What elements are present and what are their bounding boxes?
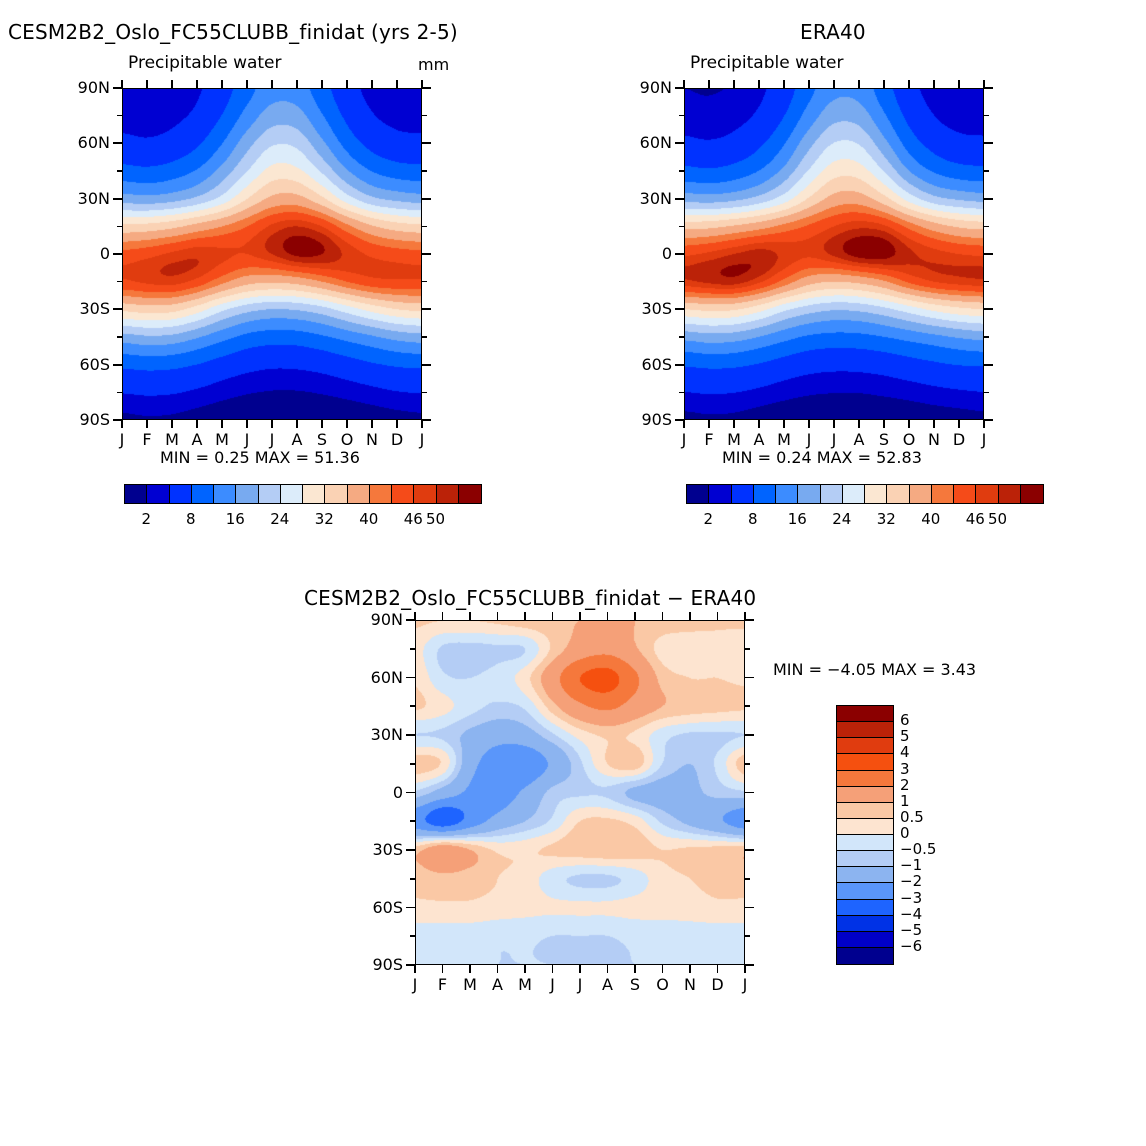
top-right-colorbar[interactable]: [686, 484, 1044, 504]
axis-tick: [758, 80, 760, 88]
axis-minor-tick: [117, 336, 122, 338]
axis-tick: [406, 677, 415, 679]
colorbar-swatch: [843, 485, 865, 503]
latitude-label: 30S: [349, 840, 403, 859]
axis-tick: [113, 142, 122, 144]
axis-tick: [422, 198, 431, 200]
axis-minor-tick: [410, 935, 415, 937]
axis-tick: [396, 80, 398, 88]
axis-tick: [984, 308, 993, 310]
axis-minor-tick: [410, 648, 415, 650]
month-label: S: [312, 430, 332, 449]
latitude-label: 30N: [56, 189, 110, 208]
axis-tick: [984, 87, 993, 89]
axis-tick: [634, 965, 636, 973]
month-label: N: [680, 975, 700, 994]
axis-tick: [708, 80, 710, 88]
month-label: O: [899, 430, 919, 449]
month-label: A: [488, 975, 508, 994]
axis-tick: [858, 420, 860, 428]
axis-tick: [371, 80, 373, 88]
axis-tick: [662, 965, 664, 973]
axis-minor-tick: [679, 336, 684, 338]
axis-tick: [421, 420, 423, 428]
axis-tick: [675, 142, 684, 144]
axis-tick: [833, 420, 835, 428]
axis-minor-tick: [984, 281, 989, 283]
month-label: F: [137, 430, 157, 449]
axis-tick: [121, 420, 123, 428]
colorbar-swatch: [837, 851, 893, 867]
axis-tick: [406, 619, 415, 621]
colorbar-tick-label: 24: [264, 510, 296, 528]
axis-tick: [984, 198, 993, 200]
axis-tick: [745, 964, 754, 966]
axis-tick: [883, 80, 885, 88]
axis-tick: [113, 87, 122, 89]
month-label: O: [337, 430, 357, 449]
axis-tick: [675, 308, 684, 310]
axis-minor-tick: [410, 705, 415, 707]
top-left-colorbar[interactable]: [124, 484, 482, 504]
latitude-label: 90N: [56, 78, 110, 97]
latitude-label: 60N: [349, 668, 403, 687]
colorbar-swatch: [437, 485, 459, 503]
axis-tick: [745, 734, 754, 736]
axis-tick: [607, 612, 609, 620]
axis-tick: [497, 612, 499, 620]
axis-tick: [321, 80, 323, 88]
month-label: J: [237, 430, 257, 449]
month-label: A: [187, 430, 207, 449]
axis-tick: [422, 253, 431, 255]
latitude-label: 90N: [618, 78, 672, 97]
axis-tick: [579, 965, 581, 973]
latitude-label: 90S: [56, 410, 110, 429]
axis-tick: [908, 80, 910, 88]
colorbar-swatch: [798, 485, 820, 503]
axis-tick: [113, 308, 122, 310]
latitude-label: 30S: [56, 299, 110, 318]
axis-tick: [406, 734, 415, 736]
axis-tick: [675, 364, 684, 366]
axis-minor-tick: [117, 226, 122, 228]
axis-tick: [146, 80, 148, 88]
colorbar-tick-label: 50: [420, 510, 452, 528]
colorbar-swatch: [192, 485, 214, 503]
month-label: J: [735, 975, 755, 994]
axis-tick: [497, 965, 499, 973]
month-label: S: [625, 975, 645, 994]
latitude-label: 30N: [618, 189, 672, 208]
axis-minor-tick: [984, 336, 989, 338]
axis-minor-tick: [679, 392, 684, 394]
colorbar-tick-label: 8: [737, 510, 769, 528]
axis-tick: [607, 965, 609, 973]
month-label: M: [460, 975, 480, 994]
axis-tick: [744, 965, 746, 973]
axis-tick: [733, 420, 735, 428]
colorbar-swatch: [392, 485, 414, 503]
colorbar-swatch: [837, 803, 893, 819]
axis-minor-tick: [745, 763, 750, 765]
axis-tick: [271, 80, 273, 88]
axis-tick: [708, 420, 710, 428]
colorbar-swatch: [837, 932, 893, 948]
month-label: M: [162, 430, 182, 449]
colorbar-swatch: [932, 485, 954, 503]
top-right-subtitle: Precipitable water: [690, 53, 844, 73]
colorbar-tick-label: 32: [870, 510, 902, 528]
axis-tick: [858, 80, 860, 88]
axis-tick: [422, 419, 431, 421]
colorbar-swatch: [837, 819, 893, 835]
colorbar-swatch: [281, 485, 303, 503]
axis-tick: [758, 420, 760, 428]
axis-tick: [958, 80, 960, 88]
axis-tick: [689, 965, 691, 973]
axis-tick: [271, 420, 273, 428]
axis-tick: [984, 419, 993, 421]
month-label: D: [708, 975, 728, 994]
top-left-units: mm: [418, 55, 449, 74]
colorbar-swatch: [687, 485, 709, 503]
colorbar-swatch: [837, 722, 893, 738]
axis-minor-tick: [745, 820, 750, 822]
colorbar-swatch: [865, 485, 887, 503]
axis-tick: [783, 420, 785, 428]
colorbar-swatch: [459, 485, 481, 503]
colorbar-swatch: [147, 485, 169, 503]
colorbar-swatch: [837, 835, 893, 851]
month-label: J: [570, 975, 590, 994]
axis-tick: [296, 80, 298, 88]
axis-minor-tick: [984, 115, 989, 117]
axis-minor-tick: [410, 878, 415, 880]
axis-minor-tick: [984, 226, 989, 228]
colorbar-tick-label: 32: [308, 510, 340, 528]
axis-tick: [196, 420, 198, 428]
axis-tick: [422, 142, 431, 144]
axis-tick: [422, 308, 431, 310]
colorbar-tick-label: 16: [219, 510, 251, 528]
colorbar-swatch: [910, 485, 932, 503]
axis-tick: [113, 253, 122, 255]
colorbar-swatch: [837, 706, 893, 722]
axis-tick: [675, 253, 684, 255]
axis-tick: [984, 364, 993, 366]
colorbar-tick-label: −6: [900, 937, 922, 955]
colorbar-swatch: [170, 485, 192, 503]
axis-tick: [552, 612, 554, 620]
latitude-label: 0: [349, 783, 403, 802]
colorbar-swatch: [999, 485, 1021, 503]
axis-minor-tick: [679, 170, 684, 172]
axis-tick: [745, 619, 754, 621]
axis-tick: [406, 907, 415, 909]
month-label: J: [824, 430, 844, 449]
month-label: S: [874, 430, 894, 449]
axis-tick: [321, 420, 323, 428]
axis-tick: [745, 849, 754, 851]
axis-tick: [958, 420, 960, 428]
latitude-label: 90S: [618, 410, 672, 429]
axis-minor-tick: [679, 226, 684, 228]
colorbar-tick-label: 2: [692, 510, 724, 528]
axis-tick: [717, 965, 719, 973]
latitude-label: 0: [618, 244, 672, 263]
month-label: J: [799, 430, 819, 449]
axis-tick: [733, 80, 735, 88]
axis-tick: [933, 80, 935, 88]
axis-tick: [833, 80, 835, 88]
colorbar-swatch: [236, 485, 258, 503]
month-label: J: [412, 430, 432, 449]
colorbar-swatch: [754, 485, 776, 503]
colorbar-swatch: [259, 485, 281, 503]
axis-tick: [883, 420, 885, 428]
month-label: M: [212, 430, 232, 449]
axis-tick: [346, 80, 348, 88]
month-label: N: [924, 430, 944, 449]
colorbar-swatch: [837, 883, 893, 899]
difference-title: CESM2B2_Oslo_FC55CLUBB_finidat − ERA40: [304, 586, 756, 610]
axis-tick: [745, 792, 754, 794]
month-label: J: [405, 975, 425, 994]
month-label: A: [749, 430, 769, 449]
latitude-label: 0: [56, 244, 110, 263]
colorbar-swatch: [370, 485, 392, 503]
axis-minor-tick: [410, 820, 415, 822]
month-label: D: [949, 430, 969, 449]
month-label: A: [598, 975, 618, 994]
latitude-label: 60S: [56, 355, 110, 374]
top-left-minmax: MIN = 0.25 MAX = 51.36: [160, 448, 360, 467]
axis-tick: [675, 87, 684, 89]
colorbar-swatch: [837, 771, 893, 787]
axis-minor-tick: [117, 392, 122, 394]
axis-tick: [406, 792, 415, 794]
colorbar-swatch: [125, 485, 147, 503]
axis-tick: [524, 965, 526, 973]
month-label: M: [774, 430, 794, 449]
top-right-contour-plot[interactable]: [684, 88, 984, 420]
colorbar-swatch: [709, 485, 731, 503]
colorbar-swatch: [303, 485, 325, 503]
month-label: M: [724, 430, 744, 449]
axis-tick: [689, 612, 691, 620]
colorbar-tick-label: 40: [915, 510, 947, 528]
colorbar-tick-label: 8: [175, 510, 207, 528]
colorbar-swatch: [821, 485, 843, 503]
axis-tick: [113, 364, 122, 366]
latitude-label: 90N: [349, 610, 403, 629]
axis-minor-tick: [117, 281, 122, 283]
axis-tick: [675, 419, 684, 421]
colorbar-swatch: [732, 485, 754, 503]
colorbar-swatch: [414, 485, 436, 503]
colorbar-swatch: [348, 485, 370, 503]
axis-tick: [717, 612, 719, 620]
axis-tick: [196, 80, 198, 88]
axis-tick: [524, 612, 526, 620]
axis-minor-tick: [679, 281, 684, 283]
axis-tick: [246, 80, 248, 88]
axis-minor-tick: [984, 392, 989, 394]
colorbar-swatch: [837, 754, 893, 770]
axis-tick: [984, 142, 993, 144]
month-label: M: [515, 975, 535, 994]
axis-minor-tick: [984, 170, 989, 172]
axis-tick: [745, 677, 754, 679]
axis-minor-tick: [117, 170, 122, 172]
axis-tick: [246, 420, 248, 428]
difference-minmax: MIN = −4.05 MAX = 3.43: [773, 660, 976, 679]
month-label: D: [387, 430, 407, 449]
axis-tick: [984, 253, 993, 255]
axis-minor-tick: [422, 336, 427, 338]
colorbar-swatch: [214, 485, 236, 503]
top-left-contour-plot[interactable]: [122, 88, 422, 420]
axis-tick: [983, 420, 985, 428]
axis-tick: [808, 80, 810, 88]
colorbar-swatch: [954, 485, 976, 503]
axis-tick: [171, 420, 173, 428]
month-label: A: [849, 430, 869, 449]
colorbar-swatch: [837, 867, 893, 883]
latitude-label: 90S: [349, 955, 403, 974]
axis-tick: [579, 612, 581, 620]
axis-minor-tick: [422, 115, 427, 117]
latitude-label: 60S: [349, 898, 403, 917]
colorbar-tick-label: 50: [982, 510, 1014, 528]
axis-tick: [908, 420, 910, 428]
month-label: A: [287, 430, 307, 449]
month-label: J: [262, 430, 282, 449]
colorbar-swatch: [837, 916, 893, 932]
axis-tick: [469, 965, 471, 973]
axis-minor-tick: [679, 115, 684, 117]
colorbar-swatch: [837, 738, 893, 754]
axis-tick: [808, 420, 810, 428]
axis-minor-tick: [422, 170, 427, 172]
colorbar-swatch: [887, 485, 909, 503]
colorbar-swatch: [837, 787, 893, 803]
axis-tick: [442, 612, 444, 620]
latitude-label: 60N: [56, 133, 110, 152]
axis-tick: [683, 420, 685, 428]
axis-tick: [469, 612, 471, 620]
latitude-label: 30N: [349, 725, 403, 744]
month-label: J: [674, 430, 694, 449]
axis-tick: [371, 420, 373, 428]
colorbar-tick-label: 16: [781, 510, 813, 528]
axis-tick: [422, 364, 431, 366]
axis-tick: [406, 964, 415, 966]
axis-minor-tick: [117, 115, 122, 117]
month-label: O: [653, 975, 673, 994]
axis-minor-tick: [745, 935, 750, 937]
axis-minor-tick: [745, 878, 750, 880]
latitude-label: 60N: [618, 133, 672, 152]
axis-tick: [422, 87, 431, 89]
top-left-title: CESM2B2_Oslo_FC55CLUBB_finidat (yrs 2-5): [8, 20, 458, 44]
colorbar-swatch: [325, 485, 347, 503]
axis-tick: [662, 612, 664, 620]
axis-minor-tick: [422, 281, 427, 283]
colorbar-tick-label: 40: [353, 510, 385, 528]
month-label: N: [362, 430, 382, 449]
colorbar-tick-label: 2: [130, 510, 162, 528]
axis-tick: [113, 198, 122, 200]
colorbar-swatch: [976, 485, 998, 503]
axis-tick: [933, 420, 935, 428]
colorbar-swatch: [837, 900, 893, 916]
month-label: J: [974, 430, 994, 449]
axis-tick: [675, 198, 684, 200]
axis-tick: [442, 965, 444, 973]
axis-tick: [171, 80, 173, 88]
colorbar-swatch: [776, 485, 798, 503]
latitude-label: 60S: [618, 355, 672, 374]
axis-minor-tick: [745, 648, 750, 650]
axis-tick: [406, 849, 415, 851]
axis-tick: [221, 80, 223, 88]
colorbar-swatch: [837, 948, 893, 964]
difference-contour-plot[interactable]: [415, 620, 745, 965]
top-right-minmax: MIN = 0.24 MAX = 52.83: [722, 448, 922, 467]
axis-tick: [414, 965, 416, 973]
colorbar-tick-label: 24: [826, 510, 858, 528]
latitude-label: 30S: [618, 299, 672, 318]
month-label: F: [433, 975, 453, 994]
axis-tick: [552, 965, 554, 973]
axis-minor-tick: [410, 763, 415, 765]
month-label: J: [543, 975, 563, 994]
month-label: J: [112, 430, 132, 449]
axis-tick: [146, 420, 148, 428]
axis-minor-tick: [422, 226, 427, 228]
axis-tick: [221, 420, 223, 428]
axis-tick: [346, 420, 348, 428]
top-right-title: ERA40: [800, 20, 866, 44]
axis-tick: [783, 80, 785, 88]
month-label: F: [699, 430, 719, 449]
axis-minor-tick: [745, 705, 750, 707]
axis-tick: [634, 612, 636, 620]
colorbar-swatch: [1021, 485, 1043, 503]
axis-tick: [396, 420, 398, 428]
difference-colorbar[interactable]: [836, 705, 894, 965]
axis-tick: [296, 420, 298, 428]
axis-tick: [745, 907, 754, 909]
axis-minor-tick: [422, 392, 427, 394]
axis-tick: [113, 419, 122, 421]
top-left-subtitle: Precipitable water: [128, 53, 282, 73]
